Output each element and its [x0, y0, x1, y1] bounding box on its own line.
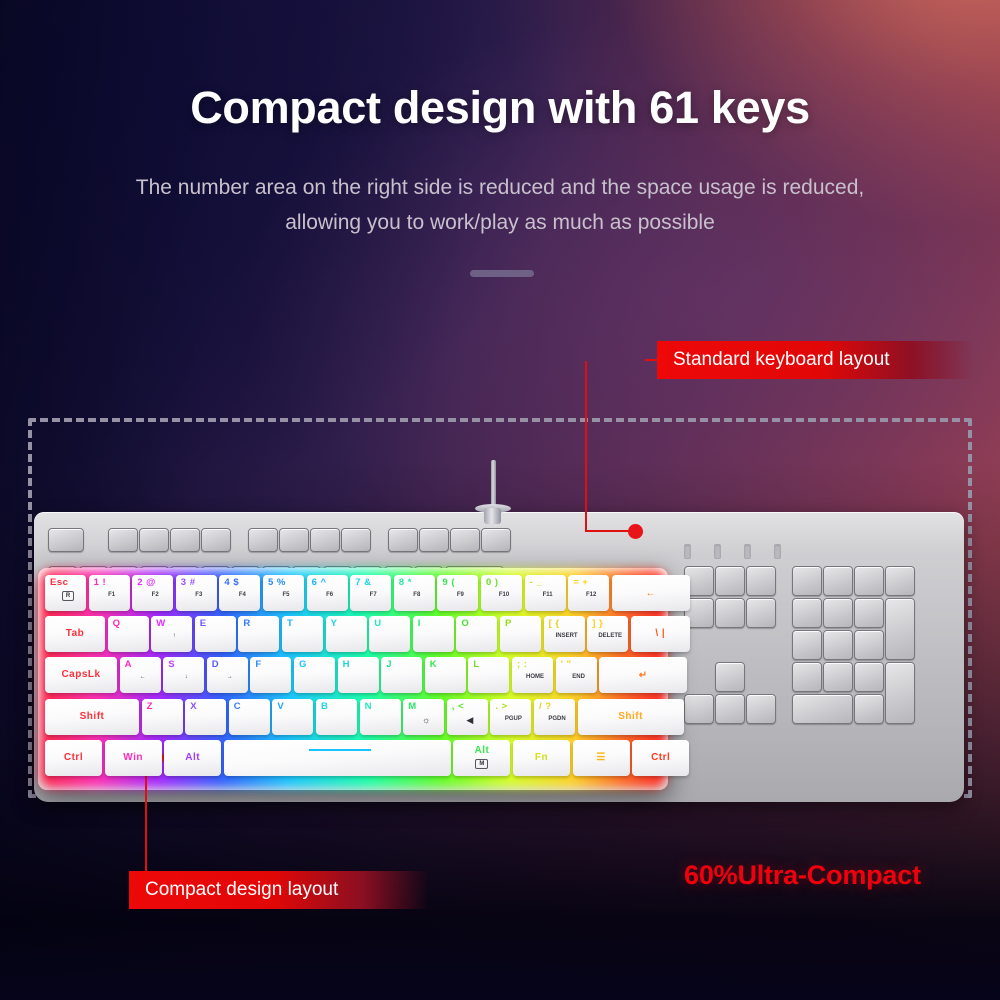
key-legend: \ |: [655, 629, 665, 639]
fullsize-key-nav-bottom: [746, 598, 776, 628]
fullsize-key-numpad: [823, 598, 853, 628]
key-legend: Ctrl: [651, 753, 670, 763]
key-legend: 8 *: [399, 578, 412, 588]
key-legend: Alt: [185, 753, 200, 763]
key-legend: 6 ^: [312, 578, 327, 588]
key-g-2-5[interactable]: G: [294, 657, 335, 693]
key-sublegend: END: [572, 674, 585, 681]
key-legend: Shift: [618, 712, 643, 722]
spacebar-indicator: [309, 749, 371, 751]
key-legend: 2 @: [137, 578, 156, 588]
key-legend: K: [430, 660, 437, 670]
key-o-1-9[interactable]: O: [456, 616, 497, 652]
key-legend: Y: [331, 619, 338, 629]
key-legend: ☰: [596, 753, 605, 763]
fullsize-key-numpad: [854, 662, 884, 692]
keycap-rows: EscR1 !F12 @F23 #F34 $F45 %F56 ^F67 &F78…: [45, 575, 661, 783]
key-legend: 3 #: [181, 578, 196, 588]
key---0-12[interactable]: = +F12: [568, 575, 609, 611]
usb-cable: [491, 460, 496, 508]
fullsize-key-numpad: [823, 630, 853, 660]
key-legend: 0 ): [486, 578, 499, 588]
key-1--0-1[interactable]: 1 !F1: [89, 575, 130, 611]
key-sublegend: F10: [499, 592, 509, 599]
key---0-13[interactable]: ←: [612, 575, 690, 611]
key-legend: = +: [573, 578, 588, 588]
keyboard-row-3: CapsLkA←S↓D→FGHJKL; :HOME' "END↵: [45, 657, 661, 695]
key-sublegend: INSERT: [556, 633, 578, 640]
fullsize-key-function: [419, 528, 449, 552]
key-legend: S: [168, 660, 175, 670]
key-ctrl-4-7[interactable]: Ctrl: [632, 740, 689, 776]
key-alt-4-2[interactable]: Alt: [164, 740, 221, 776]
key-legend: C: [234, 702, 241, 712]
key-sublegend: F9: [457, 592, 464, 599]
key-sublegend: DELETE: [598, 633, 622, 640]
key-legend: 4 $: [224, 578, 239, 588]
key---1-12[interactable]: ] }DELETE: [587, 616, 628, 652]
fullsize-indicator-led: [744, 544, 751, 559]
key-legend: Win: [123, 753, 143, 763]
keyboard-row-4: ShiftZXCVBNM☼, <◀. >PGUP/ ?PGDNShift: [45, 699, 661, 737]
key-sublegend: ↓: [185, 674, 188, 681]
key-fn-4-5[interactable]: Fn: [513, 740, 570, 776]
key-legend: J: [386, 660, 392, 670]
key-legend: L: [473, 660, 479, 670]
ultra-compact-badge: 60%Ultra-Compact: [684, 860, 921, 891]
fullsize-key-numpad-top: [792, 566, 822, 596]
key-i-1-8[interactable]: I: [413, 616, 454, 652]
key-shift-3-0[interactable]: Shift: [45, 699, 139, 735]
fullsize-key-numpad: [792, 662, 822, 692]
key---2-11[interactable]: ' "END: [556, 657, 597, 693]
fullsize-key-nav-top: [715, 566, 745, 596]
key-legend: Alt: [474, 746, 489, 756]
fullsize-key-numpad: [854, 598, 884, 628]
key-legend: 9 (: [442, 578, 455, 588]
keyboard-row-5: CtrlWinAltAltMFn☰Ctrl: [45, 740, 661, 778]
key-legend: , <: [452, 702, 464, 712]
fullsize-key-numpad: [792, 630, 822, 660]
callout-dot-top: [628, 524, 643, 539]
key-legend: ; :: [517, 660, 527, 670]
key-sublegend: F11: [543, 592, 553, 599]
page-title: Compact design with 61 keys: [0, 82, 1000, 134]
key-legend: Q: [113, 619, 121, 629]
key-sublegend: ↑: [173, 633, 176, 640]
key-legend: Ctrl: [64, 753, 83, 763]
key-legend: Z: [147, 702, 153, 712]
key-0--0-10[interactable]: 0 )F10: [481, 575, 522, 611]
key---4-6[interactable]: ☰: [573, 740, 630, 776]
key-legend: ←: [646, 586, 657, 601]
key-sublegend: F3: [195, 592, 202, 599]
key-legend: Esc: [50, 578, 68, 588]
key-s-2-2[interactable]: S↓: [163, 657, 204, 693]
key-legend: G: [299, 660, 307, 670]
key-sublegend-boxed: M: [475, 759, 488, 769]
key-legend: CapsLk: [61, 670, 100, 680]
key-sublegend: →: [227, 674, 233, 681]
key-x-3-2[interactable]: X: [185, 699, 226, 735]
key-y-1-6[interactable]: Y: [326, 616, 367, 652]
key-legend: B: [321, 702, 328, 712]
key-u-1-7[interactable]: U: [369, 616, 410, 652]
key---3-8[interactable]: , <◀: [447, 699, 488, 735]
key-sublegend: ←: [140, 674, 146, 681]
key-h-2-6[interactable]: H: [338, 657, 379, 693]
fullsize-key-arrow-left: [684, 694, 714, 724]
key-legend: V: [277, 702, 284, 712]
fullsize-key-function: [341, 528, 371, 552]
callout-standard-layout: Standard keyboard layout: [657, 341, 975, 379]
key-legend: N: [365, 702, 372, 712]
key-legend: M: [408, 702, 416, 712]
fullsize-key-function: [201, 528, 231, 552]
key-t-1-5[interactable]: T: [282, 616, 323, 652]
key-legend: X: [190, 702, 197, 712]
key-n-3-6[interactable]: N: [360, 699, 401, 735]
key-3--0-3[interactable]: 3 #F3: [176, 575, 217, 611]
key---2-10[interactable]: ; :HOME: [512, 657, 553, 693]
key-sublegend: F4: [239, 592, 246, 599]
key-e-1-3[interactable]: E: [195, 616, 236, 652]
fullsize-key-function: [248, 528, 278, 552]
key-sublegend: F8: [413, 592, 420, 599]
fullsize-key-function: [108, 528, 138, 552]
key-glyph-icon: ☼: [422, 715, 430, 725]
key-legend: . >: [495, 702, 507, 712]
key-legend: 5 %: [268, 578, 286, 588]
key-5--0-5[interactable]: 5 %F5: [263, 575, 304, 611]
callout-compact-layout: Compact design layout: [129, 871, 429, 909]
key-legend: A: [125, 660, 132, 670]
key---2-12[interactable]: ↵: [599, 657, 687, 693]
cable-connector: [484, 508, 501, 524]
key-legend: E: [200, 619, 207, 629]
key---3-9[interactable]: . >PGUP: [490, 699, 531, 735]
key-legend: [ {: [549, 619, 560, 629]
key-c-3-3[interactable]: C: [229, 699, 270, 735]
fullsize-key-numpad-top: [885, 566, 915, 596]
key-legend: P: [505, 619, 512, 629]
key-tab-1-0[interactable]: Tab: [45, 616, 105, 652]
key-legend: / ?: [539, 702, 552, 712]
key-legend: W: [156, 619, 165, 629]
fullsize-key-arrow-down: [715, 694, 745, 724]
fullsize-indicator-led: [684, 544, 691, 559]
key-ctrl-4-0[interactable]: Ctrl: [45, 740, 102, 776]
key---1-13[interactable]: \ |: [631, 616, 690, 652]
key-v-3-4[interactable]: V: [272, 699, 313, 735]
key-legend: Fn: [535, 753, 548, 763]
key-w-1-2[interactable]: W↑: [151, 616, 192, 652]
key-r-1-4[interactable]: R: [238, 616, 279, 652]
fullsize-key-esc: [48, 528, 84, 552]
fullsize-key-arrow-right: [746, 694, 776, 724]
key---0-11[interactable]: - _F11: [525, 575, 566, 611]
page-subtitle: The number area on the right side is red…: [120, 170, 880, 240]
key-f-2-4[interactable]: F: [250, 657, 291, 693]
key---3-10[interactable]: / ?PGDN: [534, 699, 575, 735]
fullsize-key-numpad: [854, 630, 884, 660]
key-6--0-6[interactable]: 6 ^F6: [307, 575, 348, 611]
key-sublegend: F2: [152, 592, 159, 599]
product-banner: Compact design with 61 keys The number a…: [0, 0, 1000, 1000]
fullsize-key-numpad-plus: [885, 598, 915, 660]
fullsize-key-numpad: [792, 598, 822, 628]
key-legend: 7 &: [355, 578, 371, 588]
key---1-11[interactable]: [ {INSERT: [544, 616, 585, 652]
fullsize-key-numpad-dot: [854, 694, 884, 724]
keyboard-row-2: TabQW↑ERTYUIOP[ {INSERT] }DELETE\ |: [45, 616, 661, 654]
leader-line-top-vertical: [585, 361, 587, 532]
key-d-2-3[interactable]: D→: [207, 657, 248, 693]
key-esc-0-0[interactable]: EscR: [45, 575, 86, 611]
fullsize-key-function: [170, 528, 200, 552]
fullsize-key-function: [279, 528, 309, 552]
key-b-3-5[interactable]: B: [316, 699, 357, 735]
key-legend: ' ": [561, 660, 572, 670]
fullsize-key-numpad-top: [823, 566, 853, 596]
key-legend: Tab: [66, 629, 85, 639]
key-sublegend: F5: [282, 592, 289, 599]
key-legend: D: [212, 660, 219, 670]
key-p-1-10[interactable]: P: [500, 616, 541, 652]
key-sublegend: F1: [108, 592, 115, 599]
key-z-3-1[interactable]: Z: [142, 699, 183, 735]
fullsize-key-function: [481, 528, 511, 552]
key-win-4-1[interactable]: Win: [105, 740, 162, 776]
key-legend: Shift: [80, 712, 105, 722]
key-7--0-7[interactable]: 7 &F7: [350, 575, 391, 611]
key-a-2-1[interactable]: A←: [120, 657, 161, 693]
key-sublegend: HOME: [526, 674, 544, 681]
key-legend: I: [418, 619, 421, 629]
key-glyph-icon: ◀: [466, 715, 473, 725]
key-capslk-2-0[interactable]: CapsLk: [45, 657, 117, 693]
key-8--0-8[interactable]: 8 *F8: [394, 575, 435, 611]
fullsize-key-function: [139, 528, 169, 552]
key-sublegend: F7: [370, 592, 377, 599]
key-legend: 1 !: [94, 578, 107, 588]
fullsize-key-numpad-enter: [885, 662, 915, 724]
fullsize-key-nav-top: [746, 566, 776, 596]
fullsize-key-function: [450, 528, 480, 552]
key-legend: - _: [530, 578, 543, 588]
title-divider: [470, 270, 534, 277]
key-legend: R: [243, 619, 250, 629]
fullsize-indicator-led: [774, 544, 781, 559]
key-legend: U: [374, 619, 381, 629]
fullsize-key-numpad-zero: [792, 694, 853, 724]
key-legend: O: [461, 619, 469, 629]
key-legend: F: [255, 660, 261, 670]
fullsize-key-numpad-top: [854, 566, 884, 596]
sixty-percent-keyboard: EscR1 !F12 @F23 #F34 $F45 %F56 ^F67 &F78…: [38, 568, 668, 790]
key-shift-3-11[interactable]: Shift: [578, 699, 684, 735]
key-legend: ] }: [592, 619, 603, 629]
key-q-1-1[interactable]: Q: [108, 616, 149, 652]
fullsize-key-function: [310, 528, 340, 552]
keyboard-row-1: EscR1 !F12 @F23 #F34 $F45 %F56 ^F67 &F78…: [45, 575, 661, 613]
fullsize-key-function: [388, 528, 418, 552]
key-sublegend: F12: [586, 592, 596, 599]
key-j-2-7[interactable]: J: [381, 657, 422, 693]
key-2--0-2[interactable]: 2 @F2: [132, 575, 173, 611]
key-legend: ↵: [639, 668, 648, 683]
key-legend: T: [287, 619, 293, 629]
key-l-2-9[interactable]: L: [468, 657, 509, 693]
key-sublegend-boxed: R: [62, 591, 74, 601]
key-sublegend: PGUP: [505, 716, 522, 723]
fullsize-indicator-led: [714, 544, 721, 559]
key-space-4-3[interactable]: [224, 740, 451, 776]
fullsize-key-nav-bottom: [715, 598, 745, 628]
key-sublegend: PGDN: [548, 716, 565, 723]
fullsize-key-numpad: [823, 662, 853, 692]
key-4--0-4[interactable]: 4 $F4: [219, 575, 260, 611]
key-m-3-7[interactable]: M☼: [403, 699, 444, 735]
key-k-2-8[interactable]: K: [425, 657, 466, 693]
fullsize-key-arrow-up: [715, 662, 745, 692]
key-alt-4-4[interactable]: AltM: [453, 740, 510, 776]
key-sublegend: F6: [326, 592, 333, 599]
key-9--0-9[interactable]: 9 (F9: [437, 575, 478, 611]
key-legend: H: [343, 660, 350, 670]
